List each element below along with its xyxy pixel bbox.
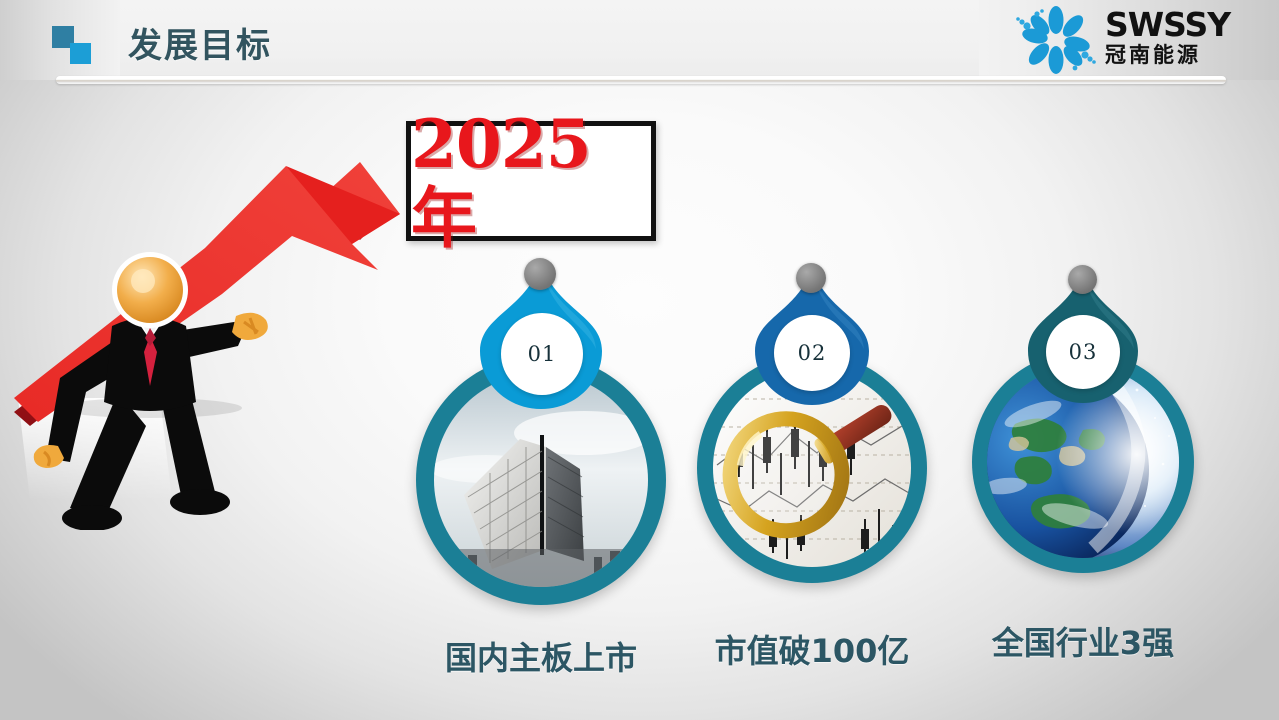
square-light-icon <box>70 43 91 64</box>
goal-number-circle-01: 01 <box>501 313 583 395</box>
goal-item-03[interactable]: 03 全国行业3强 <box>972 263 1194 603</box>
logo-brand: SWSSY <box>1105 8 1230 42</box>
goal-number-03: 03 <box>1069 340 1098 364</box>
goal-item-01[interactable]: 01 国内主板上市 <box>416 255 666 615</box>
goal-number-circle-03: 03 <box>1046 315 1120 389</box>
goal-pin-dot-02 <box>796 263 826 293</box>
water-droplet-burst-mark-icon <box>1013 6 1099 74</box>
logo-subtitle: 冠南能源 <box>1105 42 1230 68</box>
logo-text-block: SWSSY 冠南能源 <box>1105 8 1230 68</box>
header-divider <box>56 76 1226 84</box>
goal-label-02: 市值破100亿 <box>652 626 972 672</box>
title-squares-icon <box>52 26 100 64</box>
slide-canvas: 发展目标 SWSSY 冠南能源 <box>0 0 1279 720</box>
goal-item-02[interactable]: 02 市值破100亿 <box>697 261 927 611</box>
goal-number-circle-02: 02 <box>774 315 850 391</box>
goal-label-03: 全国行业3强 <box>927 618 1239 664</box>
goal-number-02: 02 <box>798 341 827 365</box>
company-logo: SWSSY 冠南能源 <box>1013 4 1265 76</box>
year-badge: 2025年 <box>406 121 656 241</box>
year-text: 2025年 <box>411 107 651 255</box>
goal-pin-dot-03 <box>1068 265 1097 294</box>
goal-pin-dot-01 <box>524 258 556 290</box>
businessman-on-rising-arrow-illustration <box>0 140 420 530</box>
goal-number-01: 01 <box>528 342 557 366</box>
page-title: 发展目标 <box>128 18 272 67</box>
